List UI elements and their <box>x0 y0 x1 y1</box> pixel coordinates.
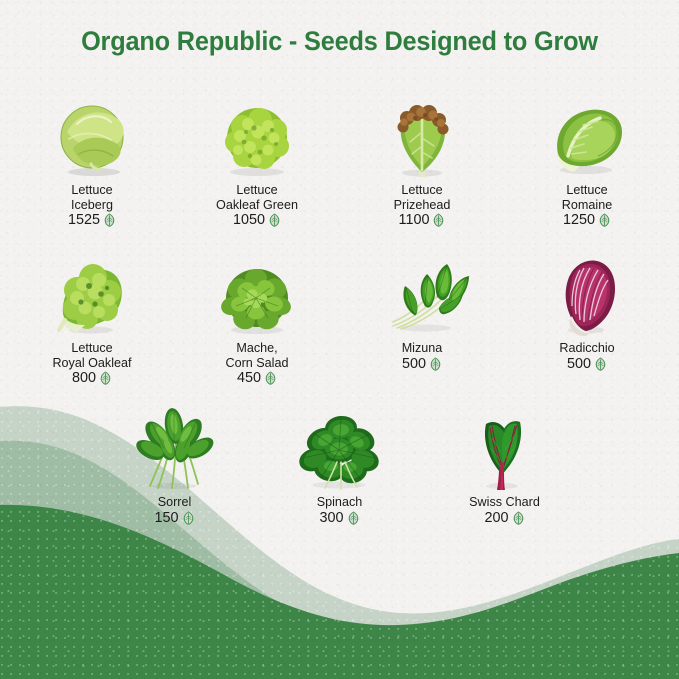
product-name: Mache, Corn Salad <box>225 341 288 370</box>
product-item-lettuce-prizehead[interactable]: Lettuce Prizehead 1100 <box>340 92 505 228</box>
leaf-icon <box>432 213 445 227</box>
product-item-swiss-chard[interactable]: Swiss Chard 200 <box>422 404 587 526</box>
seed-count-value: 500 <box>402 356 426 372</box>
seed-count-value: 800 <box>72 370 96 386</box>
seed-count: 1050 <box>233 212 281 228</box>
product-name: Lettuce Royal Oakleaf <box>52 341 131 370</box>
iceberg-lettuce-image <box>33 92 151 180</box>
product-name: Lettuce Iceberg <box>71 183 113 212</box>
seed-count-value: 1100 <box>399 212 430 228</box>
seed-count-value: 450 <box>237 370 261 386</box>
leaf-icon <box>264 371 277 385</box>
seed-count: 500 <box>402 356 442 372</box>
seed-count: 450 <box>237 370 277 386</box>
wave-dark-green <box>0 505 679 679</box>
seed-count-value: 1525 <box>68 212 100 228</box>
romaine-lettuce-image <box>528 92 646 180</box>
product-row-1: Lettuce Iceberg 1525 <box>0 92 679 228</box>
product-row-3: Sorrel 150 <box>0 404 679 526</box>
swiss-chard-image <box>446 404 564 492</box>
sorrel-image <box>116 404 234 492</box>
leaf-icon <box>594 357 607 371</box>
product-item-spinach[interactable]: Spinach 300 <box>257 404 422 526</box>
seed-count-value: 300 <box>319 510 343 526</box>
royal-oakleaf-lettuce-image <box>33 250 151 338</box>
seed-count-value: 150 <box>154 510 178 526</box>
page-title: Organo Republic - Seeds Designed to Grow <box>15 26 663 57</box>
leaf-icon <box>99 371 112 385</box>
seed-count: 1100 <box>399 212 446 228</box>
leaf-icon <box>347 511 360 525</box>
product-name: Lettuce Prizehead <box>394 183 451 212</box>
seed-count: 150 <box>154 510 194 526</box>
product-name: Sorrel <box>158 495 192 510</box>
product-item-lettuce-royal-oakleaf[interactable]: Lettuce Royal Oakleaf 800 <box>10 250 175 386</box>
product-item-lettuce-iceberg[interactable]: Lettuce Iceberg 1525 <box>10 92 175 228</box>
seed-count: 800 <box>72 370 112 386</box>
oakleaf-green-lettuce-image <box>198 92 316 180</box>
leaf-icon <box>598 213 611 227</box>
mizuna-image <box>363 250 481 338</box>
product-name: Mizuna <box>402 341 443 356</box>
seed-count-value: 500 <box>567 356 591 372</box>
spinach-image <box>281 404 399 492</box>
seed-count: 300 <box>319 510 359 526</box>
product-item-lettuce-oakleaf-green[interactable]: Lettuce Oakleaf Green 1050 <box>175 92 340 228</box>
leaf-icon <box>429 357 442 371</box>
seed-count-value: 200 <box>484 510 508 526</box>
leaf-icon <box>512 511 525 525</box>
seed-count: 500 <box>567 356 607 372</box>
seed-count-value: 1050 <box>233 212 265 228</box>
product-name: Radicchio <box>559 341 614 356</box>
seed-count: 1250 <box>563 212 611 228</box>
seed-count: 1525 <box>68 212 116 228</box>
product-name: Lettuce Oakleaf Green <box>216 183 298 212</box>
product-name: Lettuce Romaine <box>562 183 612 212</box>
leaf-icon <box>268 213 281 227</box>
leaf-icon <box>182 511 195 525</box>
product-item-radicchio[interactable]: Radicchio 500 <box>505 250 670 372</box>
product-item-sorrel[interactable]: Sorrel 150 <box>92 404 257 526</box>
mache-corn-salad-image <box>198 250 316 338</box>
prizehead-lettuce-image <box>363 92 481 180</box>
product-poster: Organo Republic - Seeds Designed to Grow <box>0 0 679 679</box>
seed-count-value: 1250 <box>563 212 595 228</box>
seed-count: 200 <box>484 510 524 526</box>
product-item-mache-corn-salad[interactable]: Mache, Corn Salad 450 <box>175 250 340 386</box>
product-name: Spinach <box>317 495 363 510</box>
product-item-mizuna[interactable]: Mizuna 500 <box>340 250 505 372</box>
leaf-icon <box>103 213 116 227</box>
product-row-2: Lettuce Royal Oakleaf 800 <box>0 250 679 386</box>
product-name: Swiss Chard <box>469 495 540 510</box>
product-item-lettuce-romaine[interactable]: Lettuce Romaine 1250 <box>505 92 670 228</box>
radicchio-image <box>528 250 646 338</box>
